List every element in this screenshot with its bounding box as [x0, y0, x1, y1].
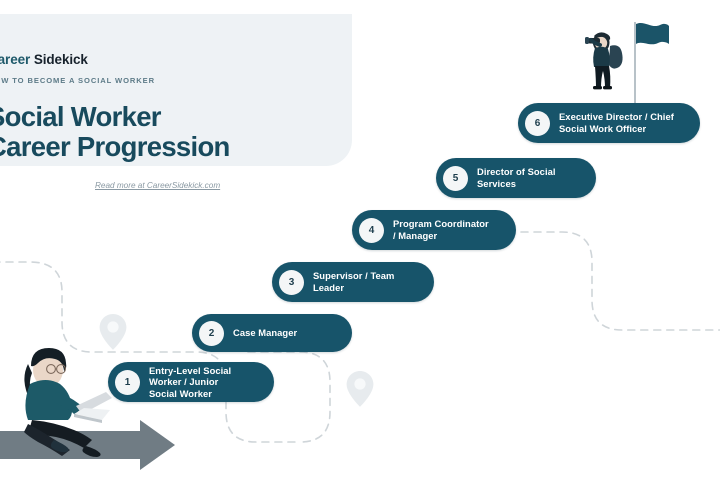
- step-label: Entry-Level Social Worker / Junior Socia…: [149, 365, 231, 400]
- step-item-4[interactable]: 4 Program Coordinator / Manager: [352, 210, 516, 250]
- brand-logo: Career Sidekick: [0, 52, 88, 67]
- page-title-line1: Social Worker: [0, 102, 230, 132]
- step-number-badge: 4: [359, 218, 384, 243]
- page-title: Social Worker Career Progression: [0, 102, 230, 162]
- step-label: Director of Social Services: [477, 166, 556, 189]
- hiker-with-flag-illustration: [574, 18, 670, 104]
- torso-icon: [593, 47, 610, 67]
- step-item-3[interactable]: 3 Supervisor / Team Leader: [272, 262, 434, 302]
- flag-icon: [636, 23, 669, 44]
- step-item-2[interactable]: 2 Case Manager: [192, 314, 352, 352]
- step-label: Supervisor / Team Leader: [313, 270, 394, 293]
- laptop-icon: [74, 392, 112, 423]
- step-label: Executive Director / Chief Social Work O…: [559, 111, 674, 134]
- step-label: Case Manager: [233, 327, 297, 339]
- infographic-canvas: Career Sidekick HOW TO BECOME A SOCIAL W…: [0, 0, 720, 478]
- step-number-badge: 3: [279, 270, 304, 295]
- brand-word-career: Career: [0, 52, 34, 67]
- step-item-6[interactable]: 6 Executive Director / Chief Social Work…: [518, 103, 700, 143]
- read-more-link[interactable]: Read more at CareerSidekick.com: [95, 181, 220, 190]
- shoe-icon: [82, 446, 100, 457]
- kicker-text: HOW TO BECOME A SOCIAL WORKER: [0, 76, 155, 85]
- brand-word-sidekick: Sidekick: [34, 52, 88, 67]
- map-pin-icon: [347, 371, 374, 407]
- backpack-icon: [609, 45, 623, 68]
- step-item-5[interactable]: 5 Director of Social Services: [436, 158, 596, 198]
- step-number-badge: 6: [525, 111, 550, 136]
- step-label: Program Coordinator / Manager: [393, 218, 489, 241]
- step-number-badge: 2: [199, 321, 224, 346]
- step-number-badge: 5: [443, 166, 468, 191]
- step-item-1[interactable]: 1 Entry-Level Social Worker / Junior Soc…: [108, 362, 274, 402]
- header-card: Career Sidekick HOW TO BECOME A SOCIAL W…: [0, 14, 352, 166]
- legs-icon: [595, 66, 610, 88]
- flag-pole-icon: [634, 22, 636, 104]
- page-title-line2: Career Progression: [0, 132, 230, 162]
- step-number-badge: 1: [115, 370, 140, 395]
